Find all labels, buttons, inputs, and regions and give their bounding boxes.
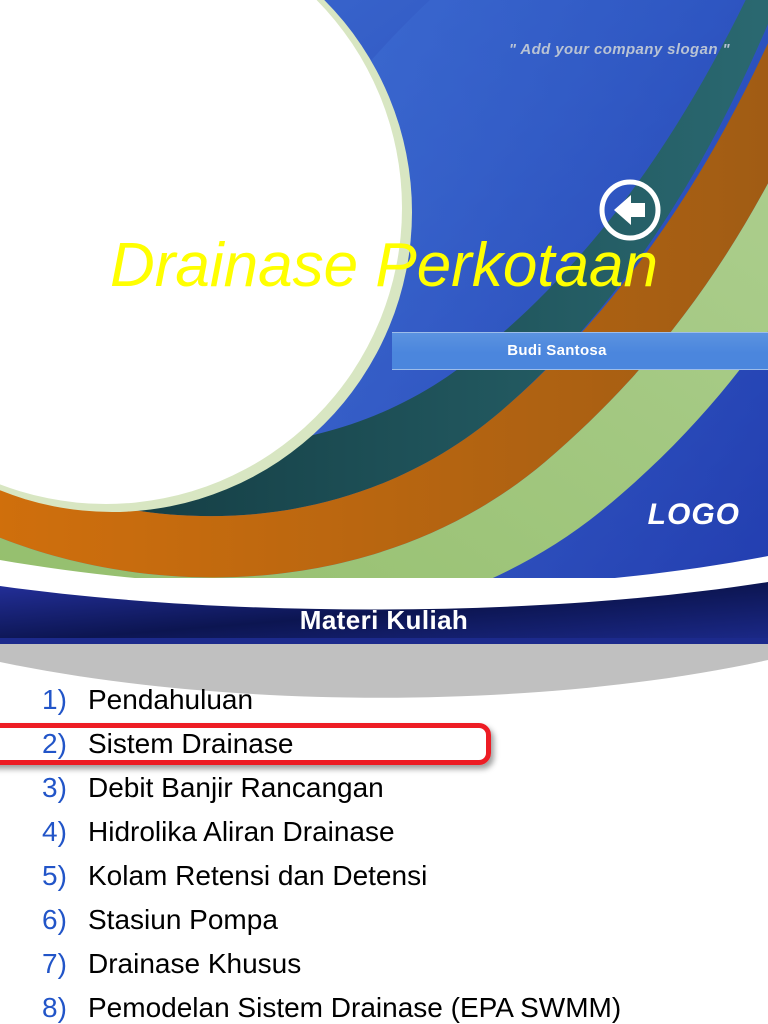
topic-item-6[interactable]: 6)Stasiun Pompa bbox=[0, 898, 768, 942]
topic-item-7[interactable]: 7)Drainase Khusus bbox=[0, 942, 768, 986]
section-title: Materi Kuliah bbox=[0, 605, 768, 636]
logo-text: LOGO bbox=[0, 498, 740, 532]
topic-label: Hidrolika Aliran Drainase bbox=[88, 816, 395, 848]
topic-item-4[interactable]: 4)Hidrolika Aliran Drainase bbox=[0, 810, 768, 854]
topic-label: Stasiun Pompa bbox=[88, 904, 278, 936]
topic-number: 6) bbox=[42, 904, 88, 936]
title-slide: " Add your company slogan " Drainase Per… bbox=[0, 0, 768, 580]
topic-label: Sistem Drainase bbox=[88, 728, 293, 760]
topic-label: Pendahuluan bbox=[88, 684, 253, 716]
topic-item-5[interactable]: 5)Kolam Retensi dan Detensi bbox=[0, 854, 768, 898]
topic-label: Debit Banjir Rancangan bbox=[88, 772, 384, 804]
topic-number: 3) bbox=[42, 772, 88, 804]
topic-list: 1)Pendahuluan2)Sistem Drainase3)Debit Ba… bbox=[0, 678, 768, 1024]
topic-item-3[interactable]: 3)Debit Banjir Rancangan bbox=[0, 766, 768, 810]
topic-label: Pemodelan Sistem Drainase (EPA SWMM) bbox=[88, 992, 621, 1024]
topic-label: Drainase Khusus bbox=[88, 948, 301, 980]
topic-number: 1) bbox=[42, 684, 88, 716]
company-slogan: " Add your company slogan " bbox=[0, 41, 730, 58]
author-band: Budi Santosa bbox=[392, 332, 768, 370]
contents-slide: Materi Kuliah 1)Pendahuluan2)Sistem Drai… bbox=[0, 578, 768, 1024]
topic-number: 4) bbox=[42, 816, 88, 848]
topic-number: 2) bbox=[42, 728, 88, 760]
page-title: Drainase Perkotaan bbox=[0, 232, 768, 300]
topic-item-8[interactable]: 8)Pemodelan Sistem Drainase (EPA SWMM) bbox=[0, 986, 768, 1024]
topic-number: 8) bbox=[42, 992, 88, 1024]
topic-item-2[interactable]: 2)Sistem Drainase bbox=[0, 722, 768, 766]
topic-label: Kolam Retensi dan Detensi bbox=[88, 860, 427, 892]
author-name: Budi Santosa bbox=[392, 342, 722, 359]
topic-item-1[interactable]: 1)Pendahuluan bbox=[0, 678, 768, 722]
topic-number: 7) bbox=[42, 948, 88, 980]
topic-number: 5) bbox=[42, 860, 88, 892]
